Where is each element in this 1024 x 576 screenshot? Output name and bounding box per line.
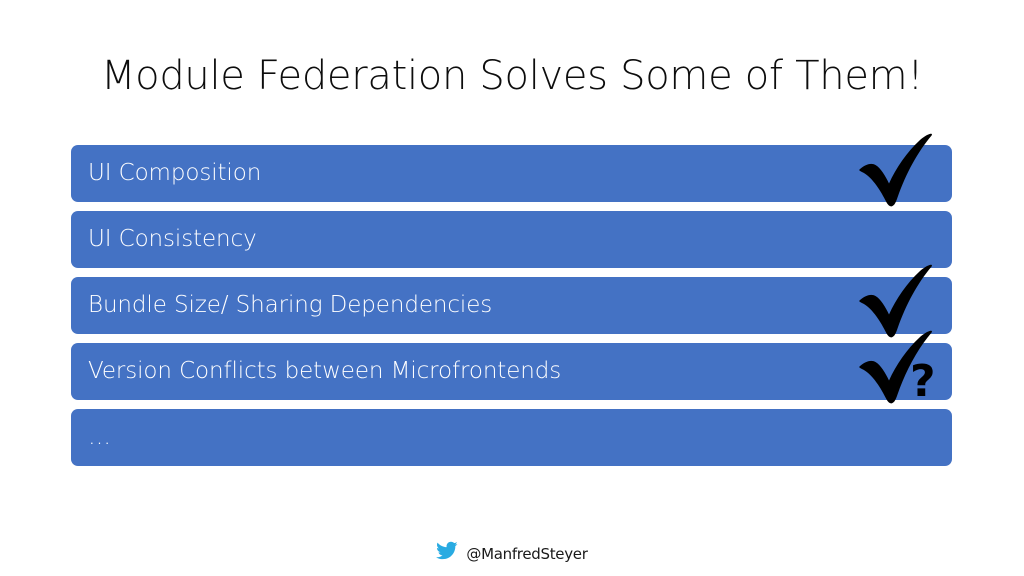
bar-label: Version Conflicts between Microfrontends (71, 360, 561, 383)
bar-list: UI Composition UI Consistency Bundle Siz… (71, 145, 952, 475)
slide-canvas: Module Federation Solves Some of Them! U… (0, 0, 1024, 576)
list-item[interactable]: UI Composition (71, 145, 952, 202)
footer: @ManfredSteyer (0, 541, 1024, 566)
bar-label: UI Consistency (71, 228, 257, 251)
list-item[interactable]: Bundle Size/ Sharing Dependencies (71, 277, 952, 334)
twitter-handle: @ManfredSteyer (466, 545, 587, 563)
bar-label: UI Composition (71, 162, 261, 185)
list-item[interactable]: … (71, 409, 952, 466)
twitter-bird-icon (436, 541, 458, 566)
page-title: Module Federation Solves Some of Them! (0, 53, 1024, 99)
bar-label: … (71, 426, 112, 449)
list-item[interactable]: UI Consistency (71, 211, 952, 268)
list-item[interactable]: Version Conflicts between Microfrontends (71, 343, 952, 400)
bar-label: Bundle Size/ Sharing Dependencies (71, 294, 492, 317)
